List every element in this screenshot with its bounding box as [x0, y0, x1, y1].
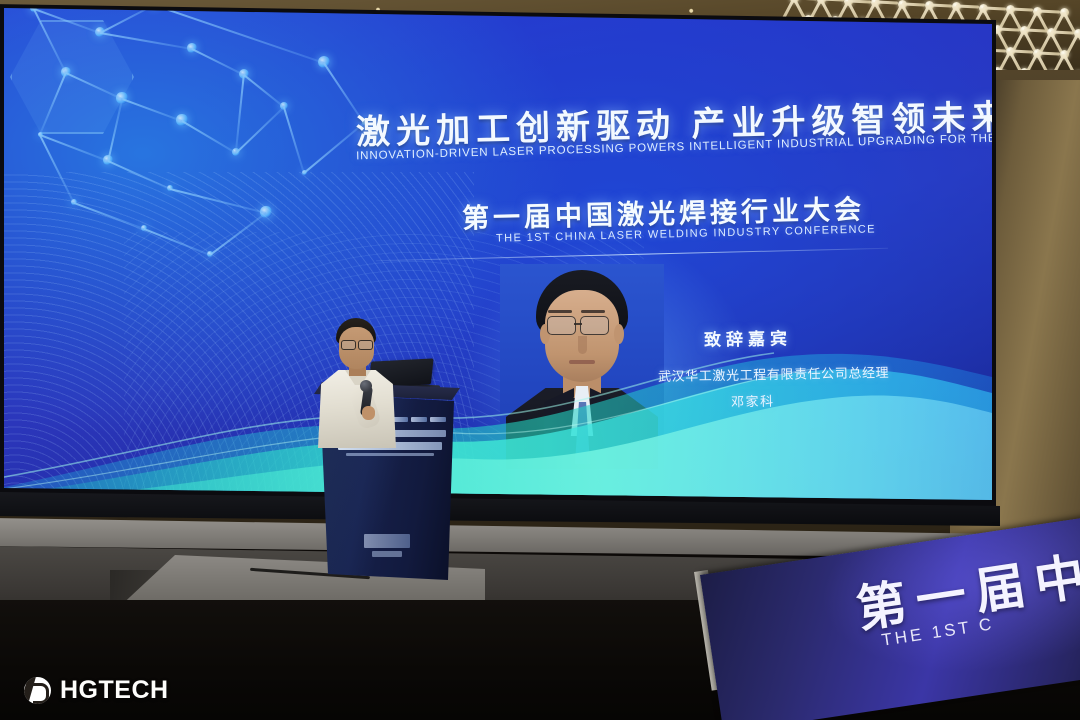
hgtech-brand-text: HGTECH: [60, 676, 169, 705]
hgtech-circular-h-logo-icon: [24, 677, 51, 704]
podium-bottom-logo-sub: [372, 551, 402, 557]
speaker-glasses-icon: [341, 340, 356, 350]
speaker-person: [300, 318, 410, 468]
led-screen: 激光加工创新驱动 产业升级智领未来 INNOVATION-DRIVEN LASE…: [4, 2, 992, 507]
screen-divider-rule: [376, 248, 888, 262]
podium-bottom-logo: [364, 534, 410, 548]
guest-organization: 武汉华工激光工程有限责任公司总经理: [658, 362, 889, 385]
guest-role-label: 致辞嘉宾: [704, 324, 792, 351]
guest-name: 邓家科: [731, 391, 775, 411]
screenshot-root: 激光加工创新驱动 产业升级智领未来 INNOVATION-DRIVEN LASE…: [0, 0, 1080, 720]
hgtech-watermark: HGTECH: [24, 676, 169, 705]
